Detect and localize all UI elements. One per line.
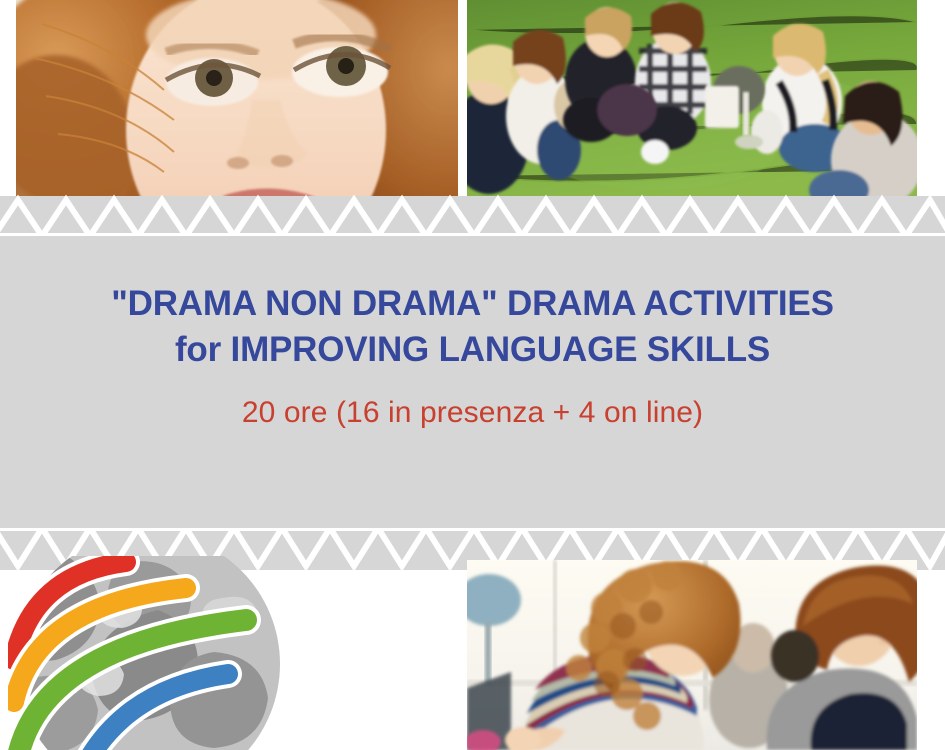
photo-group-on-grass	[467, 0, 917, 205]
phone	[735, 135, 763, 149]
poster-canvas: "DRAMA NON DRAMA" DRAMA ACTIVITIES for I…	[0, 0, 945, 750]
backpack	[597, 84, 657, 136]
title-line-2: for IMPROVING LANGUAGE SKILLS	[0, 327, 945, 373]
globe-logo-graphic	[8, 556, 318, 750]
course-duration-subtitle: 20 ore (16 in presenza + 4 on line)	[0, 395, 945, 431]
classroom-illustration	[467, 560, 917, 750]
photo-classroom	[467, 560, 917, 750]
title-line-1: "DRAMA NON DRAMA" DRAMA ACTIVITIES	[0, 281, 945, 327]
portrait-illustration	[16, 0, 458, 205]
paper-bag	[705, 86, 739, 128]
group-on-grass-illustration	[467, 0, 917, 205]
headline-block: "DRAMA NON DRAMA" DRAMA ACTIVITIES for I…	[0, 281, 945, 431]
globe-logo	[8, 556, 318, 750]
photo-portrait-topleft	[16, 0, 458, 205]
